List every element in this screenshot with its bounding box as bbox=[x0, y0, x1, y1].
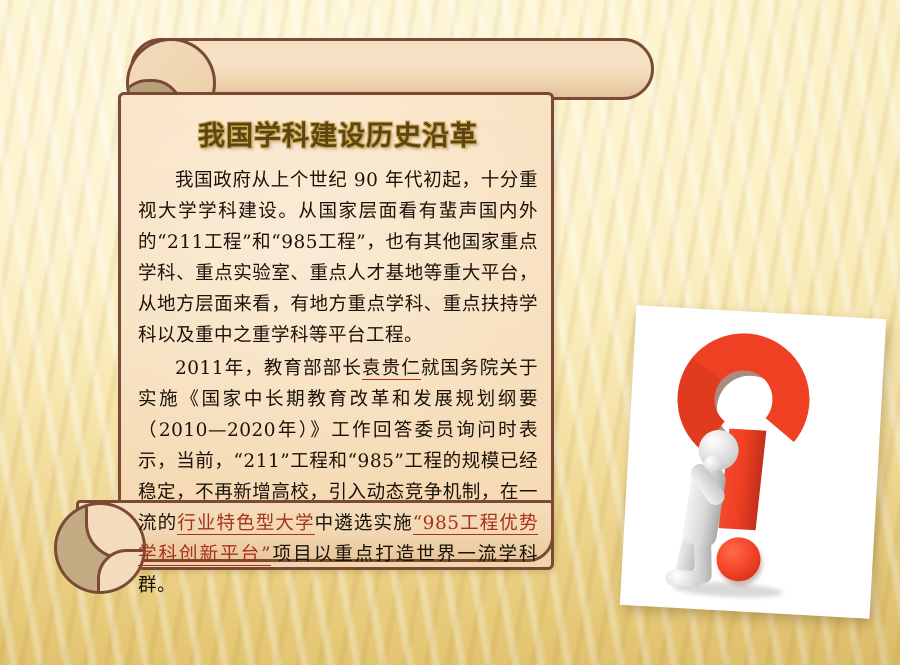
body-text-run: 2011年，教育部部长 bbox=[175, 358, 362, 379]
page-title: 我国学科建设历史沿革 bbox=[136, 98, 540, 153]
body-text-run: 我国政府从上个世纪 90 年代初起，十分重视大学学科建设。从国家层面看有蜚声国内… bbox=[138, 170, 538, 346]
scroll-content: 我国学科建设历史沿革 我国政府从上个世纪 90 年代初起，十分重视大学学科建设。… bbox=[136, 98, 540, 566]
body-paragraph-1: 我国政府从上个世纪 90 年代初起，十分重视大学学科建设。从国家层面看有蜚声国内… bbox=[138, 165, 538, 351]
underlined-name: 袁贵仁 bbox=[362, 358, 421, 380]
question-mark-illustration bbox=[620, 305, 886, 618]
highlighted-term: 行业特色型大学 bbox=[177, 513, 314, 535]
body-text-run: 就国务院关于实施《国家中长期教育改革和发展规划纲要（2010—2020年）》工作… bbox=[138, 358, 538, 534]
body-text-run: 中遴选实施 bbox=[315, 513, 413, 534]
body-paragraph-2: 2011年，教育部部长袁贵仁就国务院关于实施《国家中长期教育改革和发展规划纲要（… bbox=[138, 353, 538, 601]
scroll-bottom-roll-icon bbox=[54, 502, 146, 594]
question-mark-dot bbox=[715, 536, 761, 582]
figure-foot bbox=[665, 569, 704, 587]
slide-canvas: 我国学科建设历史沿革 我国政府从上个世纪 90 年代初起，十分重视大学学科建设。… bbox=[0, 0, 900, 665]
scroll-graphic: 我国学科建设历史沿革 我国政府从上个世纪 90 年代初起，十分重视大学学科建设。… bbox=[40, 30, 630, 600]
question-mark-thinker-photo bbox=[620, 305, 886, 618]
